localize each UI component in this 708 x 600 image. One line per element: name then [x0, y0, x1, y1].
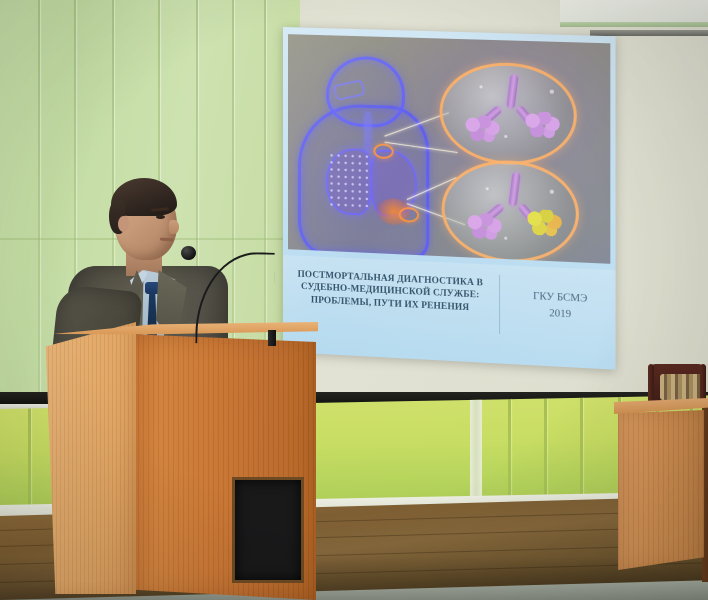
- presentation-photo: ПОСТМОРТАЛЬНАЯ ДИАГНОСТИКА В СУДЕБНО-МЕД…: [0, 0, 708, 600]
- human-figure-illustration: [298, 54, 450, 256]
- marker-ring-upper-icon: [373, 143, 393, 159]
- slide-organization-block: ГКУ БСМЭ 2019: [512, 288, 608, 325]
- marker-ring-lower-icon: [399, 207, 419, 223]
- speaker-eye: [156, 215, 165, 219]
- slide-caption-area: ПОСТМОРТАЛЬНАЯ ДИАГНОСТИКА В СУДЕБНО-МЕД…: [283, 255, 616, 370]
- side-table: [614, 398, 708, 600]
- slide-title: ПОСТМОРТАЛЬНАЯ ДИАГНОСТИКА В СУДЕБНО-МЕД…: [291, 267, 490, 314]
- microphone-head-icon: [181, 246, 196, 260]
- podium-side-panel: [40, 322, 136, 594]
- podium-speaker-grille: [232, 477, 304, 583]
- side-table-front: [618, 410, 704, 570]
- inset-healthy-alveoli: [440, 61, 577, 167]
- chair-upholstery: [660, 374, 704, 400]
- projection-screen: ПОСТМОРТАЛЬНАЯ ДИАГНОСТИКА В СУДЕБНО-МЕД…: [283, 27, 616, 370]
- slide-year: 2019: [512, 304, 608, 325]
- ceiling-trim: [560, 22, 708, 27]
- inset-inflamed-alveoli: [442, 158, 579, 264]
- slide-illustration: [288, 34, 610, 264]
- caption-divider: [499, 275, 500, 334]
- speaker-nose: [169, 220, 179, 234]
- speaker-ear: [118, 216, 129, 232]
- wooden-podium: [18, 322, 318, 600]
